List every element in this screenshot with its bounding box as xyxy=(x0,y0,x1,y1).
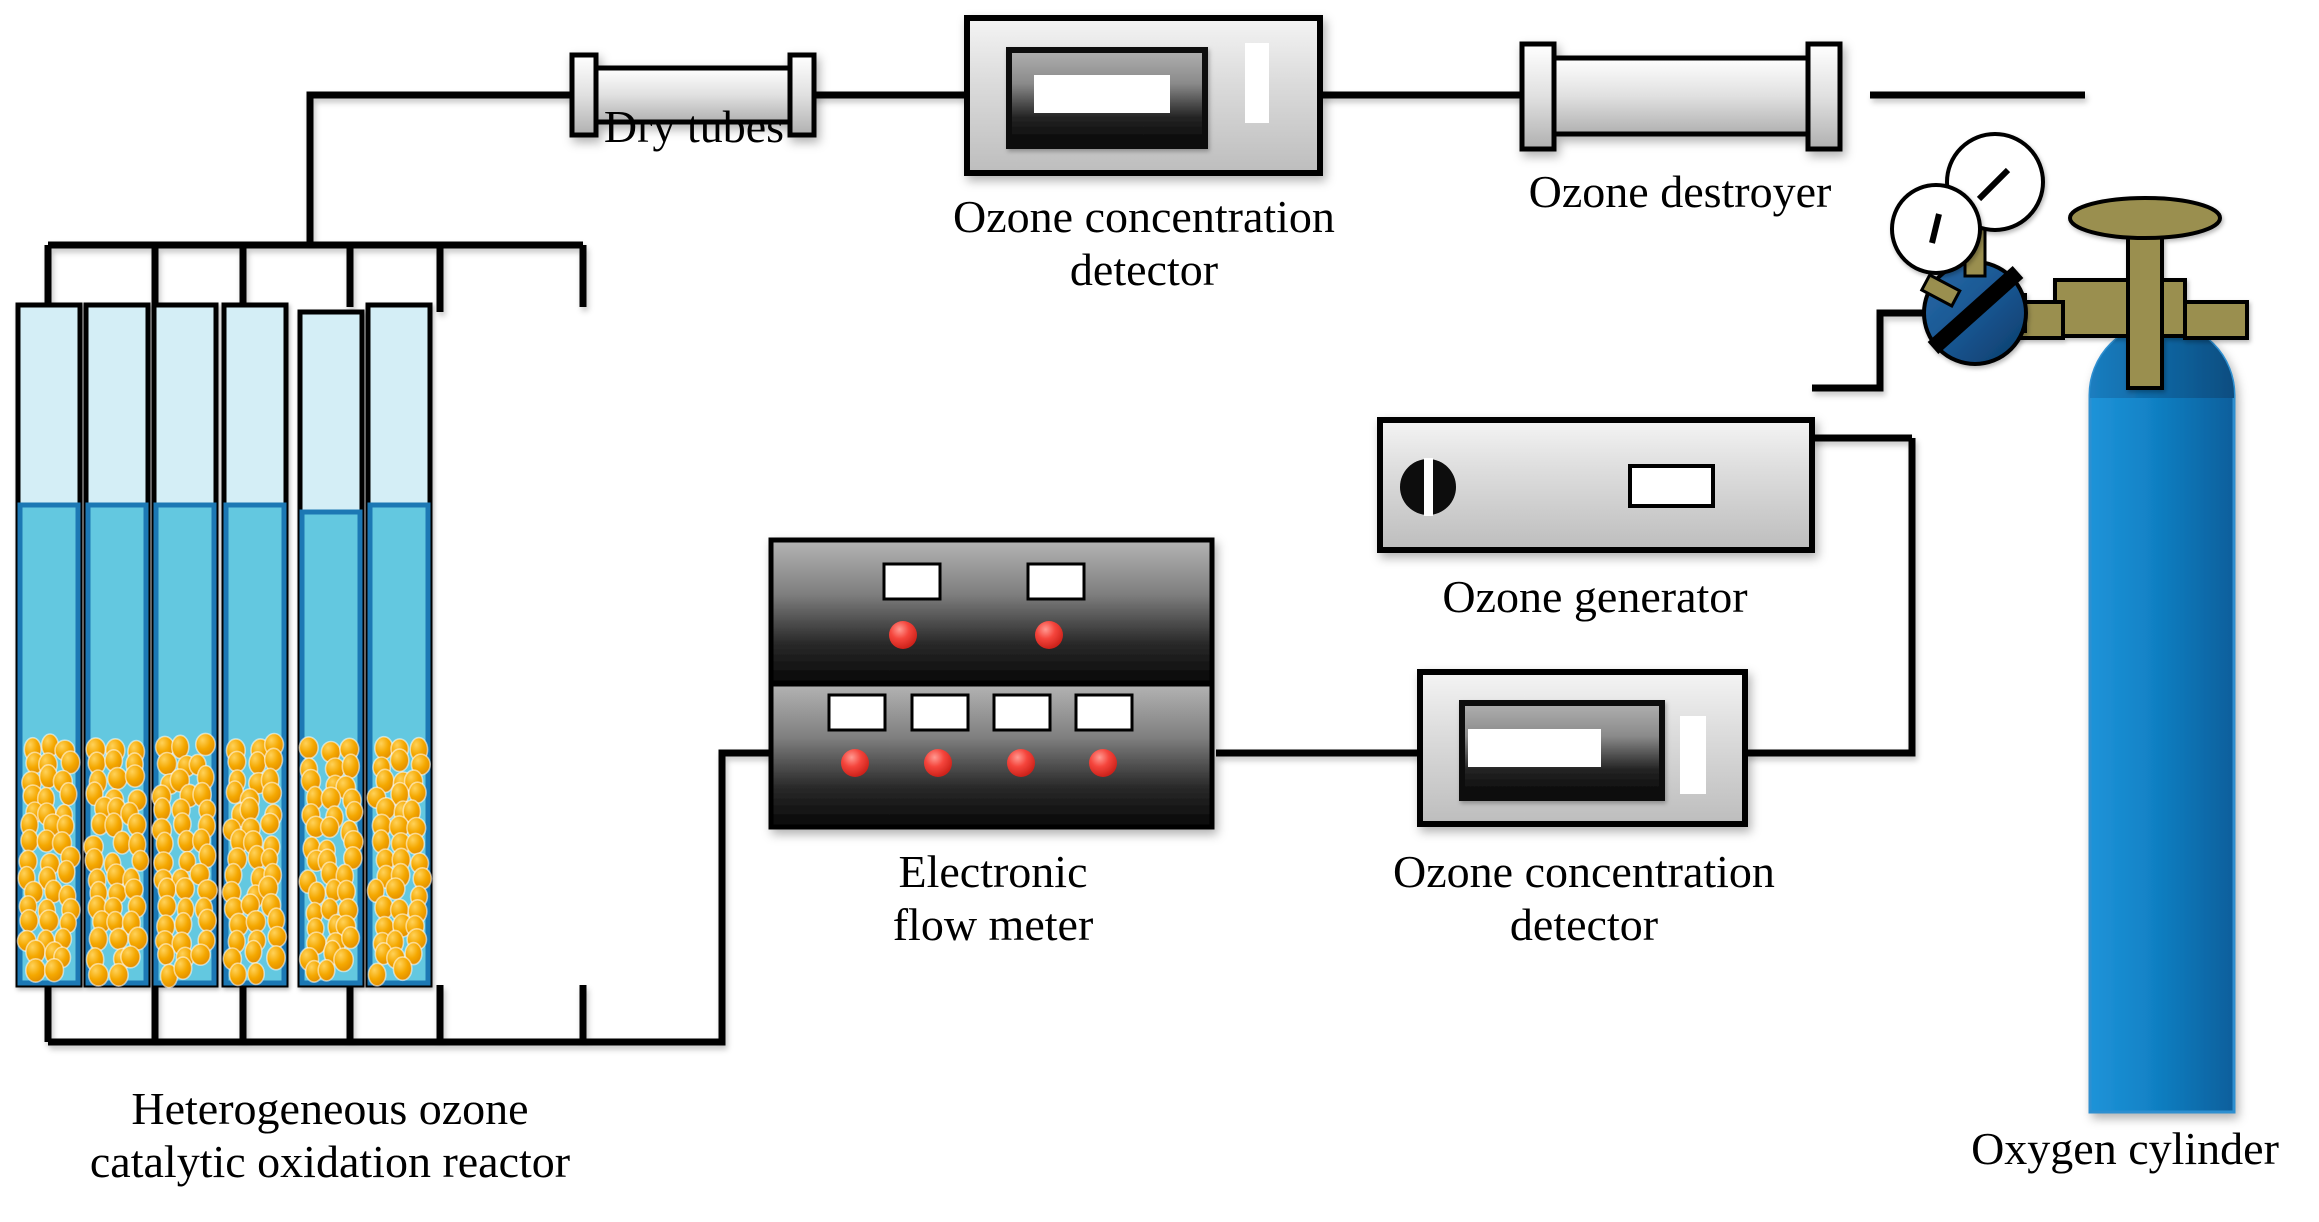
flow-meter-led-1 xyxy=(889,621,917,649)
catalyst-particle xyxy=(39,910,58,932)
reactor-column-group xyxy=(18,305,432,988)
apparatus-schematic xyxy=(0,0,2319,1222)
catalyst-particle xyxy=(20,910,38,932)
catalyst-bed-5 xyxy=(299,737,363,982)
catalyst-particle xyxy=(246,911,265,933)
catalyst-particle xyxy=(126,765,145,787)
flow-meter-display-2 xyxy=(1028,564,1084,599)
flow-meter-led-2 xyxy=(1035,621,1063,649)
flow-meter-display-5 xyxy=(994,695,1050,730)
catalyst-particle xyxy=(261,813,280,834)
catalyst-particle xyxy=(321,817,339,838)
catalyst-particle xyxy=(248,963,264,985)
catalyst-particle xyxy=(89,927,107,950)
catalyst-particle xyxy=(375,737,393,760)
catalyst-particle xyxy=(342,927,360,949)
catalyst-particle xyxy=(229,963,246,985)
catalyst-bed-6 xyxy=(367,737,431,986)
ozone-destroyer-component[interactable] xyxy=(1522,44,1840,149)
catalyst-particle xyxy=(334,948,353,971)
catalyst-particle xyxy=(318,960,335,981)
catalyst-particle xyxy=(299,737,318,759)
catalyst-bed-3 xyxy=(152,733,217,987)
catalyst-particle xyxy=(390,749,408,771)
detector-bottom-indicator-bar xyxy=(1680,716,1706,794)
catalyst-particle xyxy=(407,833,425,854)
catalyst-particle xyxy=(21,830,38,852)
catalyst-particle xyxy=(196,733,215,755)
detector-top-indicator-bar xyxy=(1245,43,1269,123)
flow-meter-led-5 xyxy=(1007,749,1035,777)
catalyst-particle xyxy=(26,959,46,982)
catalyst-particle xyxy=(346,802,363,822)
ozone-detector-top-component[interactable] xyxy=(967,18,1320,173)
pipe-reactor-to-drytubes xyxy=(310,95,583,245)
catalyst-particle xyxy=(158,896,176,917)
catalyst-particle xyxy=(154,798,171,821)
pressure-gauge-lower[interactable] xyxy=(1892,185,1980,273)
caption-ozone-detector-bottom: Ozone concentration detector xyxy=(1310,845,1858,952)
caption-electronic-flow-meter: Electronic flow meter xyxy=(825,845,1161,952)
catalyst-particle xyxy=(174,957,192,979)
catalyst-bed-2 xyxy=(84,738,149,986)
flow-meter-display-4 xyxy=(912,695,968,730)
catalyst-particle xyxy=(191,944,210,965)
flow-meter-led-4 xyxy=(924,749,952,777)
catalyst-particle xyxy=(393,957,411,980)
diagram-canvas: Dry tubes Ozone concentration detector O… xyxy=(0,0,2319,1222)
oxygen-cylinder-component[interactable] xyxy=(1892,134,2247,1112)
cylinder-body xyxy=(2090,323,2234,1112)
flow-meter-top-panel[interactable] xyxy=(771,540,1212,683)
catalyst-particle xyxy=(368,963,385,986)
electronic-flow-meter-component[interactable] xyxy=(771,540,1212,827)
flow-meter-display-3 xyxy=(829,695,885,730)
flow-meter-display-1 xyxy=(884,564,940,599)
ozone-generator-component[interactable] xyxy=(1380,420,1812,550)
catalyst-particle xyxy=(245,941,262,964)
detector-bottom-screen xyxy=(1462,703,1662,798)
catalyst-particle xyxy=(198,909,216,931)
catalyst-particle xyxy=(249,752,266,774)
catalyst-particle xyxy=(109,964,128,987)
caption-ozone-detector-top: Ozone concentration detector xyxy=(870,190,1418,297)
catalyst-particle xyxy=(342,754,359,778)
flow-meter-display-6 xyxy=(1076,695,1132,730)
catalyst-particle xyxy=(132,850,149,871)
generator-display xyxy=(1630,466,1713,506)
catalyst-particle xyxy=(108,768,127,790)
flow-meter-bottom-panel[interactable] xyxy=(771,684,1212,827)
catalyst-particle xyxy=(89,964,109,986)
catalyst-particle xyxy=(45,959,64,982)
caption-oxygen-cylinder: Oxygen cylinder xyxy=(1930,1122,2319,1175)
caption-reactor: Heterogeneous ozone catalytic oxidation … xyxy=(20,1082,640,1189)
flow-meter-led-3 xyxy=(841,749,869,777)
caption-ozone-generator: Ozone generator xyxy=(1370,570,1820,623)
catalyst-particle xyxy=(158,944,175,965)
catalyst-particle xyxy=(262,782,281,803)
ozone-detector-bottom-component[interactable] xyxy=(1420,672,1745,824)
caption-dry-tubes: Dry tubes xyxy=(563,100,825,153)
catalyst-particle xyxy=(265,748,283,771)
catalyst-particle xyxy=(267,946,285,970)
catalyst-particle xyxy=(228,751,246,772)
valve-handwheel-icon xyxy=(2070,198,2220,238)
flow-meter-led-6 xyxy=(1089,749,1117,777)
catalyst-particle xyxy=(268,927,286,948)
detector-top-screen xyxy=(1009,50,1205,146)
caption-ozone-destroyer: Ozone destroyer xyxy=(1455,165,1905,218)
catalyst-particle xyxy=(60,783,77,806)
catalyst-particle xyxy=(176,878,195,900)
catalyst-particle xyxy=(58,861,75,884)
catalyst-particle xyxy=(109,928,128,949)
catalyst-particle xyxy=(386,878,405,900)
